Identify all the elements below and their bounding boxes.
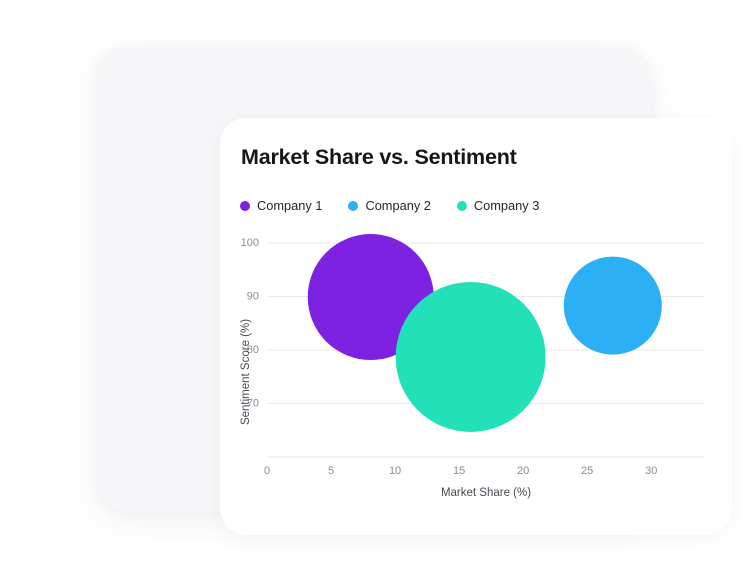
x-axis-tick-label: 20 <box>517 465 529 477</box>
bubble-chart-svg: 708090100 051015202530 Market Share (%) … <box>220 118 732 535</box>
bubbles-group <box>308 234 662 432</box>
chart-bubble[interactable] <box>564 257 662 355</box>
y-axis-tick-label: 100 <box>241 237 259 249</box>
chart-outer-frame: Market Share vs. Sentiment Company 1 Com… <box>95 45 652 512</box>
chart-bubble[interactable] <box>396 282 546 432</box>
x-axis-tick-labels: 051015202530 <box>264 465 657 477</box>
plot-area: 708090100 051015202530 Market Share (%) … <box>220 118 732 535</box>
x-axis-tick-label: 15 <box>453 465 465 477</box>
y-axis-title: Sentiment Score (%) <box>240 319 252 425</box>
x-axis-tick-label: 25 <box>581 465 593 477</box>
x-axis-title: Market Share (%) <box>441 487 531 499</box>
x-axis-tick-label: 10 <box>389 465 401 477</box>
x-axis-tick-label: 0 <box>264 465 270 477</box>
x-axis-tick-label: 30 <box>645 465 657 477</box>
y-axis-tick-label: 90 <box>247 290 259 302</box>
x-axis-tick-label: 5 <box>328 465 334 477</box>
chart-card: Market Share vs. Sentiment Company 1 Com… <box>220 118 732 535</box>
